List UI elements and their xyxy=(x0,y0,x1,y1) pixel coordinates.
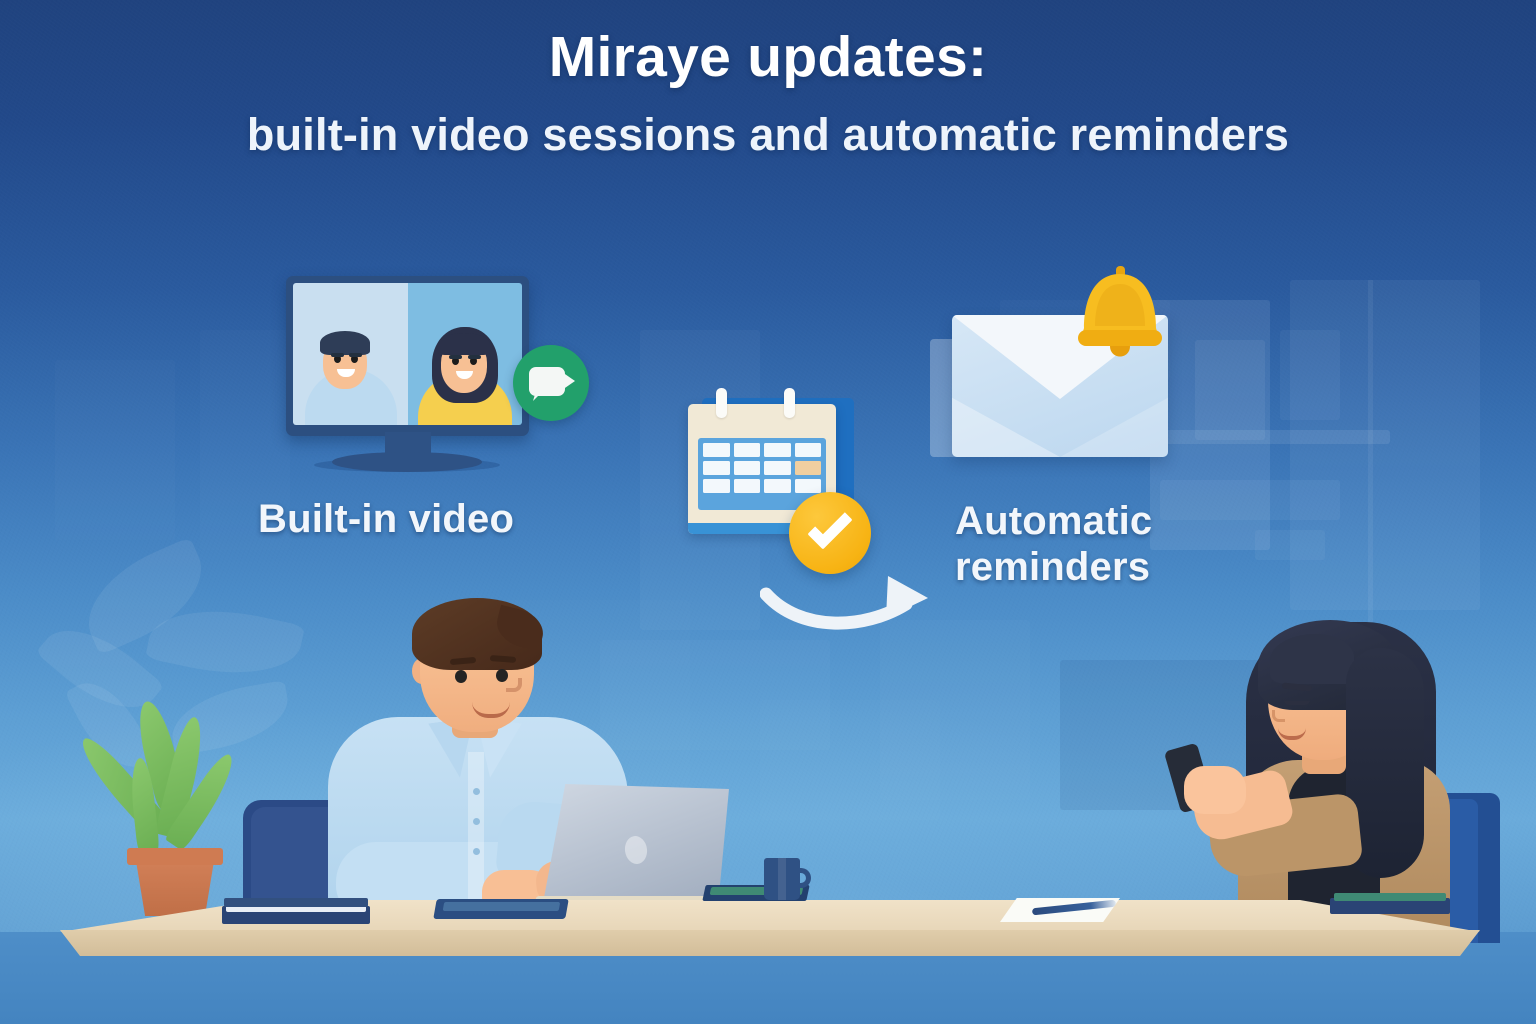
feature-label-automatic-reminders: Automatic reminders xyxy=(955,499,1152,590)
woman-with-phone xyxy=(1150,600,1480,930)
notebook-keyboard xyxy=(433,899,569,919)
coffee-mug xyxy=(764,858,806,900)
video-tile-participant-2 xyxy=(408,283,523,425)
feature-label-built-in-video: Built-in video xyxy=(258,497,514,543)
curved-arrow-right-icon xyxy=(760,560,940,632)
page-subtitle: built-in video sessions and automatic re… xyxy=(0,110,1536,160)
monitor-video-call-icon xyxy=(286,276,529,436)
poster-canvas: Miraye updates: built-in video sessions … xyxy=(0,0,1536,1024)
heading-block: Miraye updates: built-in video sessions … xyxy=(0,28,1536,159)
video-tile-participant-1 xyxy=(293,283,408,425)
book-stack-left xyxy=(222,898,370,924)
book-stack-right xyxy=(1330,890,1450,914)
monitor-screen xyxy=(293,283,522,425)
calendar-ring-left xyxy=(716,388,727,418)
monitor-base xyxy=(332,452,482,472)
page-title: Miraye updates: xyxy=(0,28,1536,88)
calendar-ring-right xyxy=(784,388,795,418)
feature-label-line-2: reminders xyxy=(955,545,1152,591)
video-camera-badge-icon xyxy=(513,345,589,421)
feature-label-line-1: Automatic xyxy=(955,499,1152,545)
bell-icon xyxy=(1074,266,1166,366)
potted-plant xyxy=(95,700,235,915)
